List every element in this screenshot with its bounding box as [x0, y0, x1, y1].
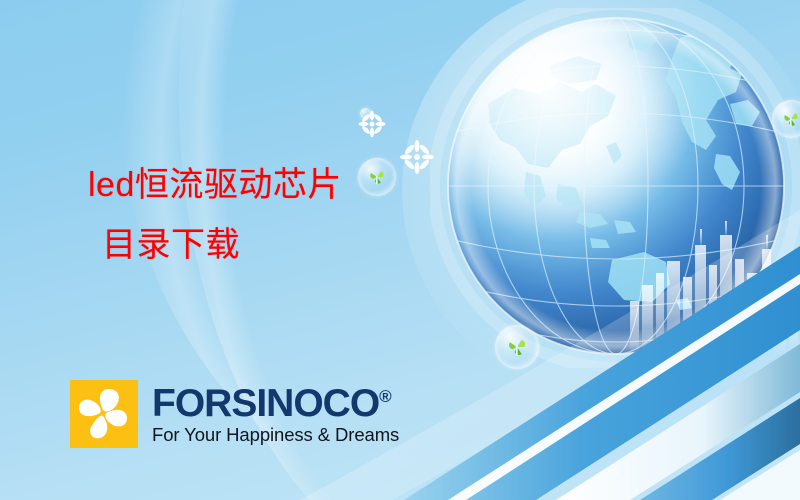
- bubble-small-outline: [360, 108, 371, 119]
- pinwheel-petals-icon: [70, 380, 138, 448]
- registered-trademark-symbol: ®: [379, 387, 392, 406]
- green-pinwheel-icon: [367, 167, 387, 187]
- page-title: led恒流驱动芯片 目录下载: [88, 168, 342, 262]
- four-petal-pinwheel-mark: [70, 380, 138, 448]
- page-title-line-2: 目录下载: [102, 228, 342, 262]
- green-pinwheel-icon: [505, 335, 529, 359]
- logo-wordmark: FORSINOCO® For Your Happiness & Dreams: [152, 384, 399, 445]
- brand-tagline: For Your Happiness & Dreams: [152, 426, 399, 445]
- bubble-with-pinwheel-left: [358, 158, 396, 196]
- bubble-with-pinwheel-center: [495, 325, 539, 369]
- page-title-line-1: led恒流驱动芯片: [88, 166, 342, 204]
- brand-name-text: FORSINOCO: [152, 382, 379, 425]
- brand-name: FORSINOCO®: [152, 384, 399, 423]
- green-pinwheel-icon: [781, 109, 800, 129]
- banner-canvas: led恒流驱动芯片 目录下载 FORSINOCO® For Your Happi…: [0, 0, 800, 500]
- company-logo: FORSINOCO® For Your Happiness & Dreams: [70, 380, 399, 448]
